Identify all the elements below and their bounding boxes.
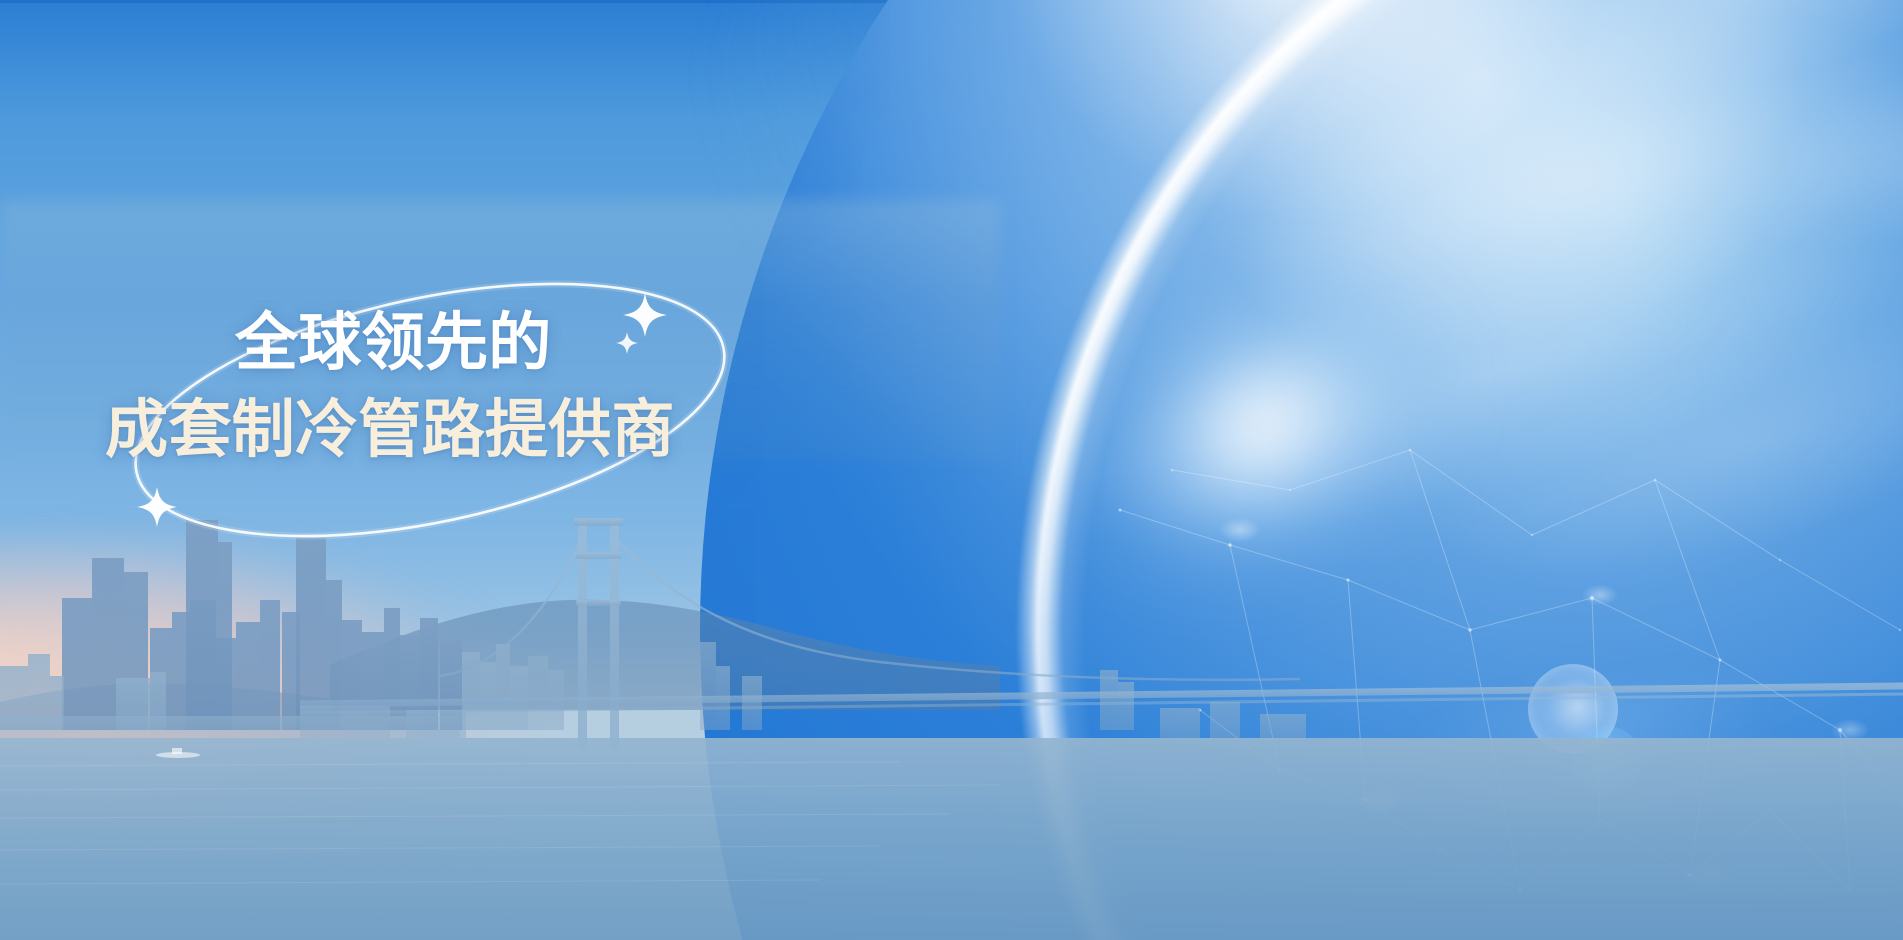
headline-line-1: 全球领先的 bbox=[235, 305, 865, 382]
headline-line-2: 成套制冷管路提供商 bbox=[105, 392, 865, 469]
hero-banner: 全球领先的 成套制冷管路提供商 bbox=[0, 0, 1903, 940]
landscape-scene bbox=[0, 480, 1903, 940]
top-edge-strip bbox=[0, 0, 1903, 3]
harbor-water bbox=[0, 738, 1903, 940]
headline-block: 全球领先的 成套制冷管路提供商 bbox=[105, 305, 865, 469]
